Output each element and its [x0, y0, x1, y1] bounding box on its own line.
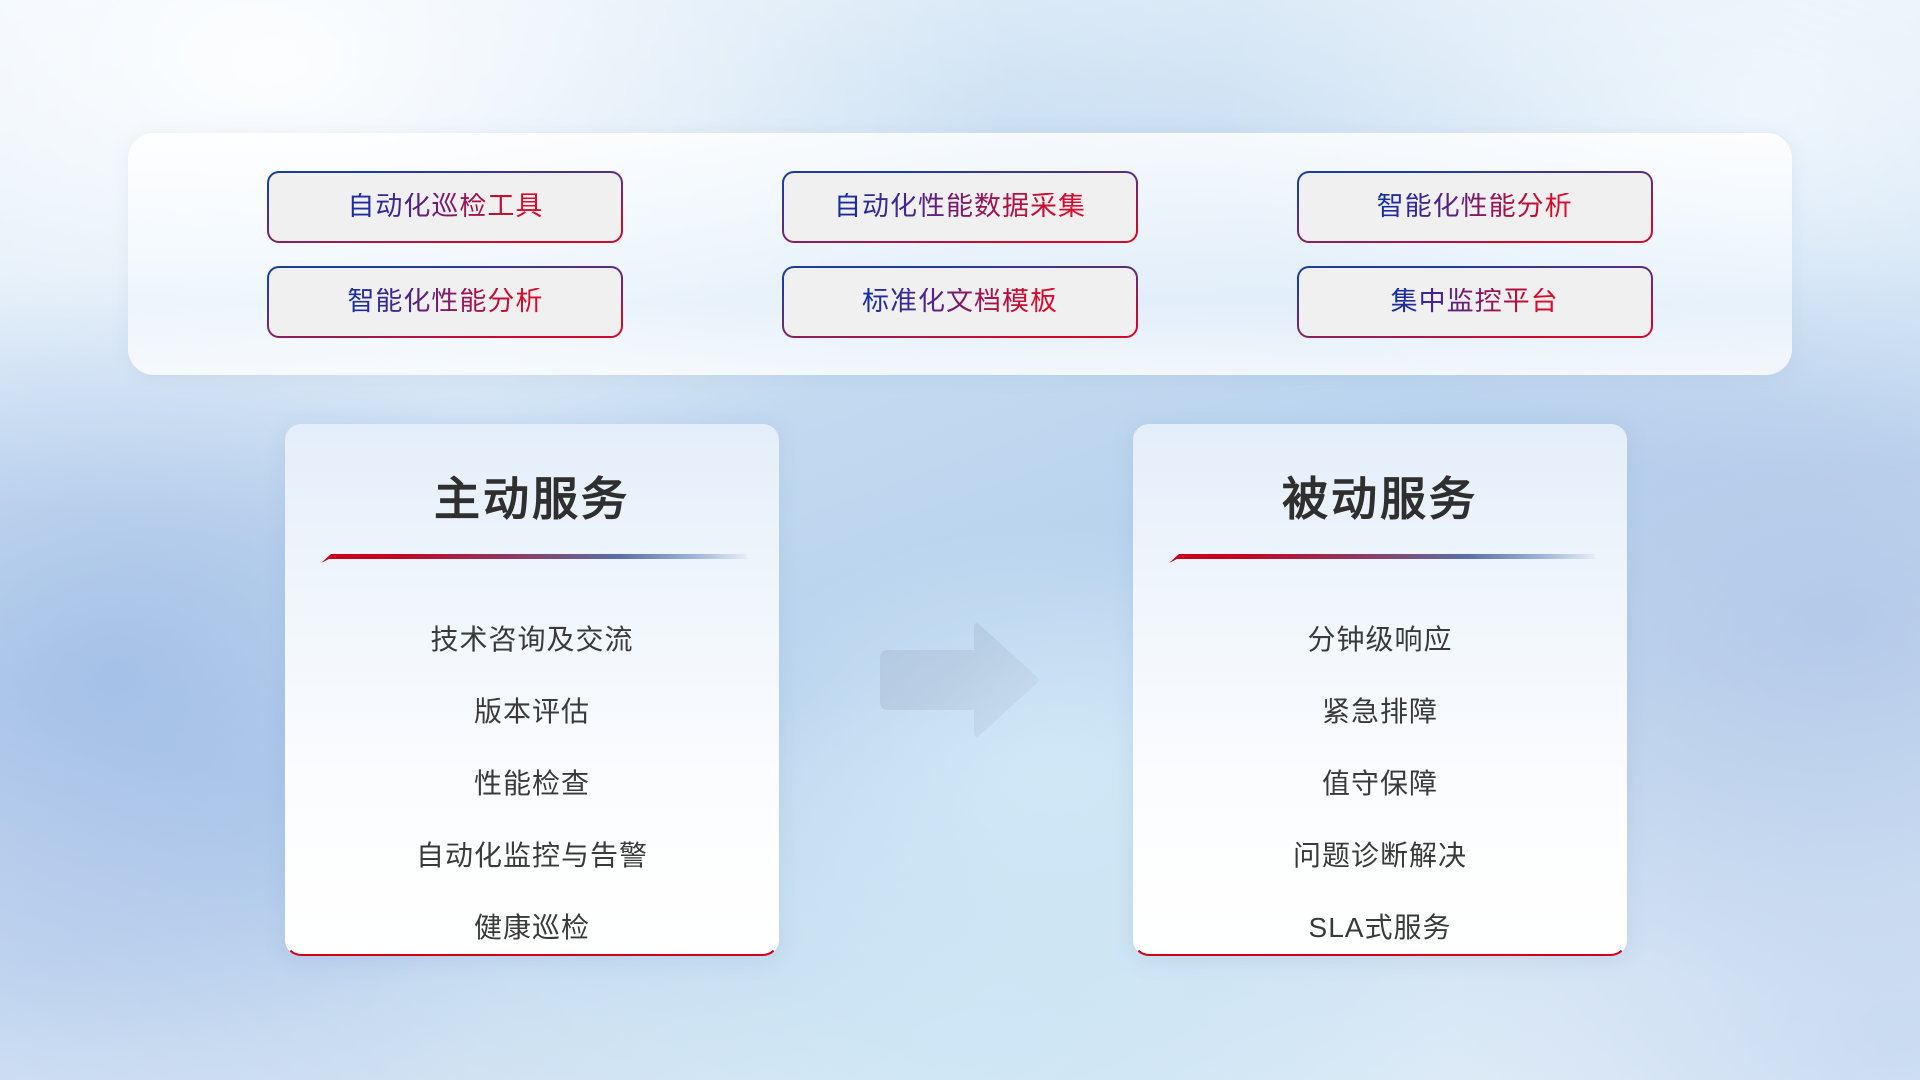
capability-chip-surface: 智能化性能分析 [269, 268, 621, 336]
capability-chip-label: 智能化性能分析 [1377, 193, 1573, 220]
capability-chip-surface: 自动化巡检工具 [269, 173, 621, 241]
service-card-passive: 被动服务 分钟级响应 紧急排障 值守保障 [1133, 424, 1627, 956]
capability-chip-surface: 标准化文档模板 [784, 268, 1136, 336]
card-list-item: 紧急排障 [1322, 676, 1438, 748]
capability-chip-surface: 自动化性能数据采集 [784, 173, 1136, 241]
capability-chip-label: 标准化文档模板 [862, 288, 1058, 315]
capability-chip[interactable]: 智能化性能分析 [267, 266, 623, 338]
card-list-item: 技术咨询及交流 [430, 604, 633, 676]
capability-chip[interactable]: 标准化文档模板 [782, 266, 1138, 338]
capability-chip-label: 自动化巡检工具 [347, 193, 543, 220]
card-list-item: 值守保障 [1322, 748, 1438, 820]
capability-chip-label: 智能化性能分析 [347, 288, 543, 315]
card-item-list: 技术咨询及交流 版本评估 性能检查 自动化监控与告警 健康巡检 [287, 604, 777, 956]
capability-chip-surface: 智能化性能分析 [1299, 173, 1651, 241]
capability-chip-grid: 自动化巡检工具 自动化性能数据采集 智能化性能分析 智能化性能分析 [128, 133, 1792, 375]
card-list-item: 问题诊断解决 [1293, 820, 1467, 892]
right-arrow-icon [876, 620, 1041, 740]
service-card-active: 主动服务 技术咨询及交流 版本评估 性能检查 [285, 424, 779, 956]
capability-chip[interactable]: 集中监控平台 [1297, 266, 1653, 338]
card-list-item: 自动化监控与告警 [416, 820, 648, 892]
capability-chip[interactable]: 自动化性能数据采集 [782, 171, 1138, 243]
card-list-item: 版本评估 [474, 676, 590, 748]
capability-chip-surface: 集中监控平台 [1299, 268, 1651, 336]
card-divider [1169, 552, 1595, 564]
card-list-item: 健康巡检 [474, 892, 590, 956]
card-list-item: 性能检查 [474, 748, 590, 820]
card-title: 主动服务 [287, 476, 777, 522]
slide-canvas: 自动化巡检工具 自动化性能数据采集 智能化性能分析 智能化性能分析 [0, 0, 1920, 1080]
card-item-list: 分钟级响应 紧急排障 值守保障 问题诊断解决 SLA式服务 [1135, 604, 1625, 956]
capabilities-panel: 自动化巡检工具 自动化性能数据采集 智能化性能分析 智能化性能分析 [128, 133, 1792, 375]
capability-chip-label: 自动化性能数据采集 [834, 193, 1086, 220]
capability-chip-label: 集中监控平台 [1391, 288, 1559, 315]
card-title: 被动服务 [1135, 476, 1625, 522]
card-divider [321, 552, 747, 564]
card-list-item: 分钟级响应 [1307, 604, 1452, 676]
capability-chip[interactable]: 智能化性能分析 [1297, 171, 1653, 243]
capability-chip[interactable]: 自动化巡检工具 [267, 171, 623, 243]
card-list-item: SLA式服务 [1309, 892, 1452, 956]
